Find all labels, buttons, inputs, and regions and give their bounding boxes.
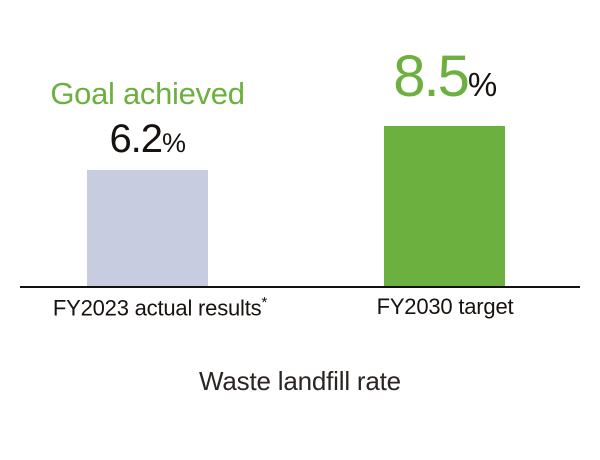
category-label-fy2023-text: FY2023 actual results [53, 295, 262, 320]
chart-title: Waste landfill rate [0, 366, 600, 397]
bar-fy2023-actual [87, 170, 208, 287]
value-number-fy2030: 8.5 [393, 44, 468, 109]
x-axis-line [20, 286, 580, 288]
value-label-fy2030: 8.5% [310, 48, 580, 106]
bar-fy2030-target [384, 126, 505, 287]
waste-landfill-rate-chart: Goal achieved 6.2% 8.5% FY2023 actual re… [0, 0, 600, 460]
footnote-asterisk: * [261, 294, 267, 311]
value-number-fy2023: 6.2 [109, 117, 162, 161]
category-label-fy2030-text: FY2030 target [377, 294, 514, 319]
percent-sign-fy2023: % [162, 128, 186, 158]
percent-sign-fy2030: % [468, 66, 497, 103]
value-label-fy2023: 6.2% [0, 119, 295, 159]
category-label-fy2023: FY2023 actual results* [0, 294, 320, 321]
goal-achieved-annotation: Goal achieved [0, 76, 295, 112]
category-label-fy2030: FY2030 target [310, 294, 580, 320]
